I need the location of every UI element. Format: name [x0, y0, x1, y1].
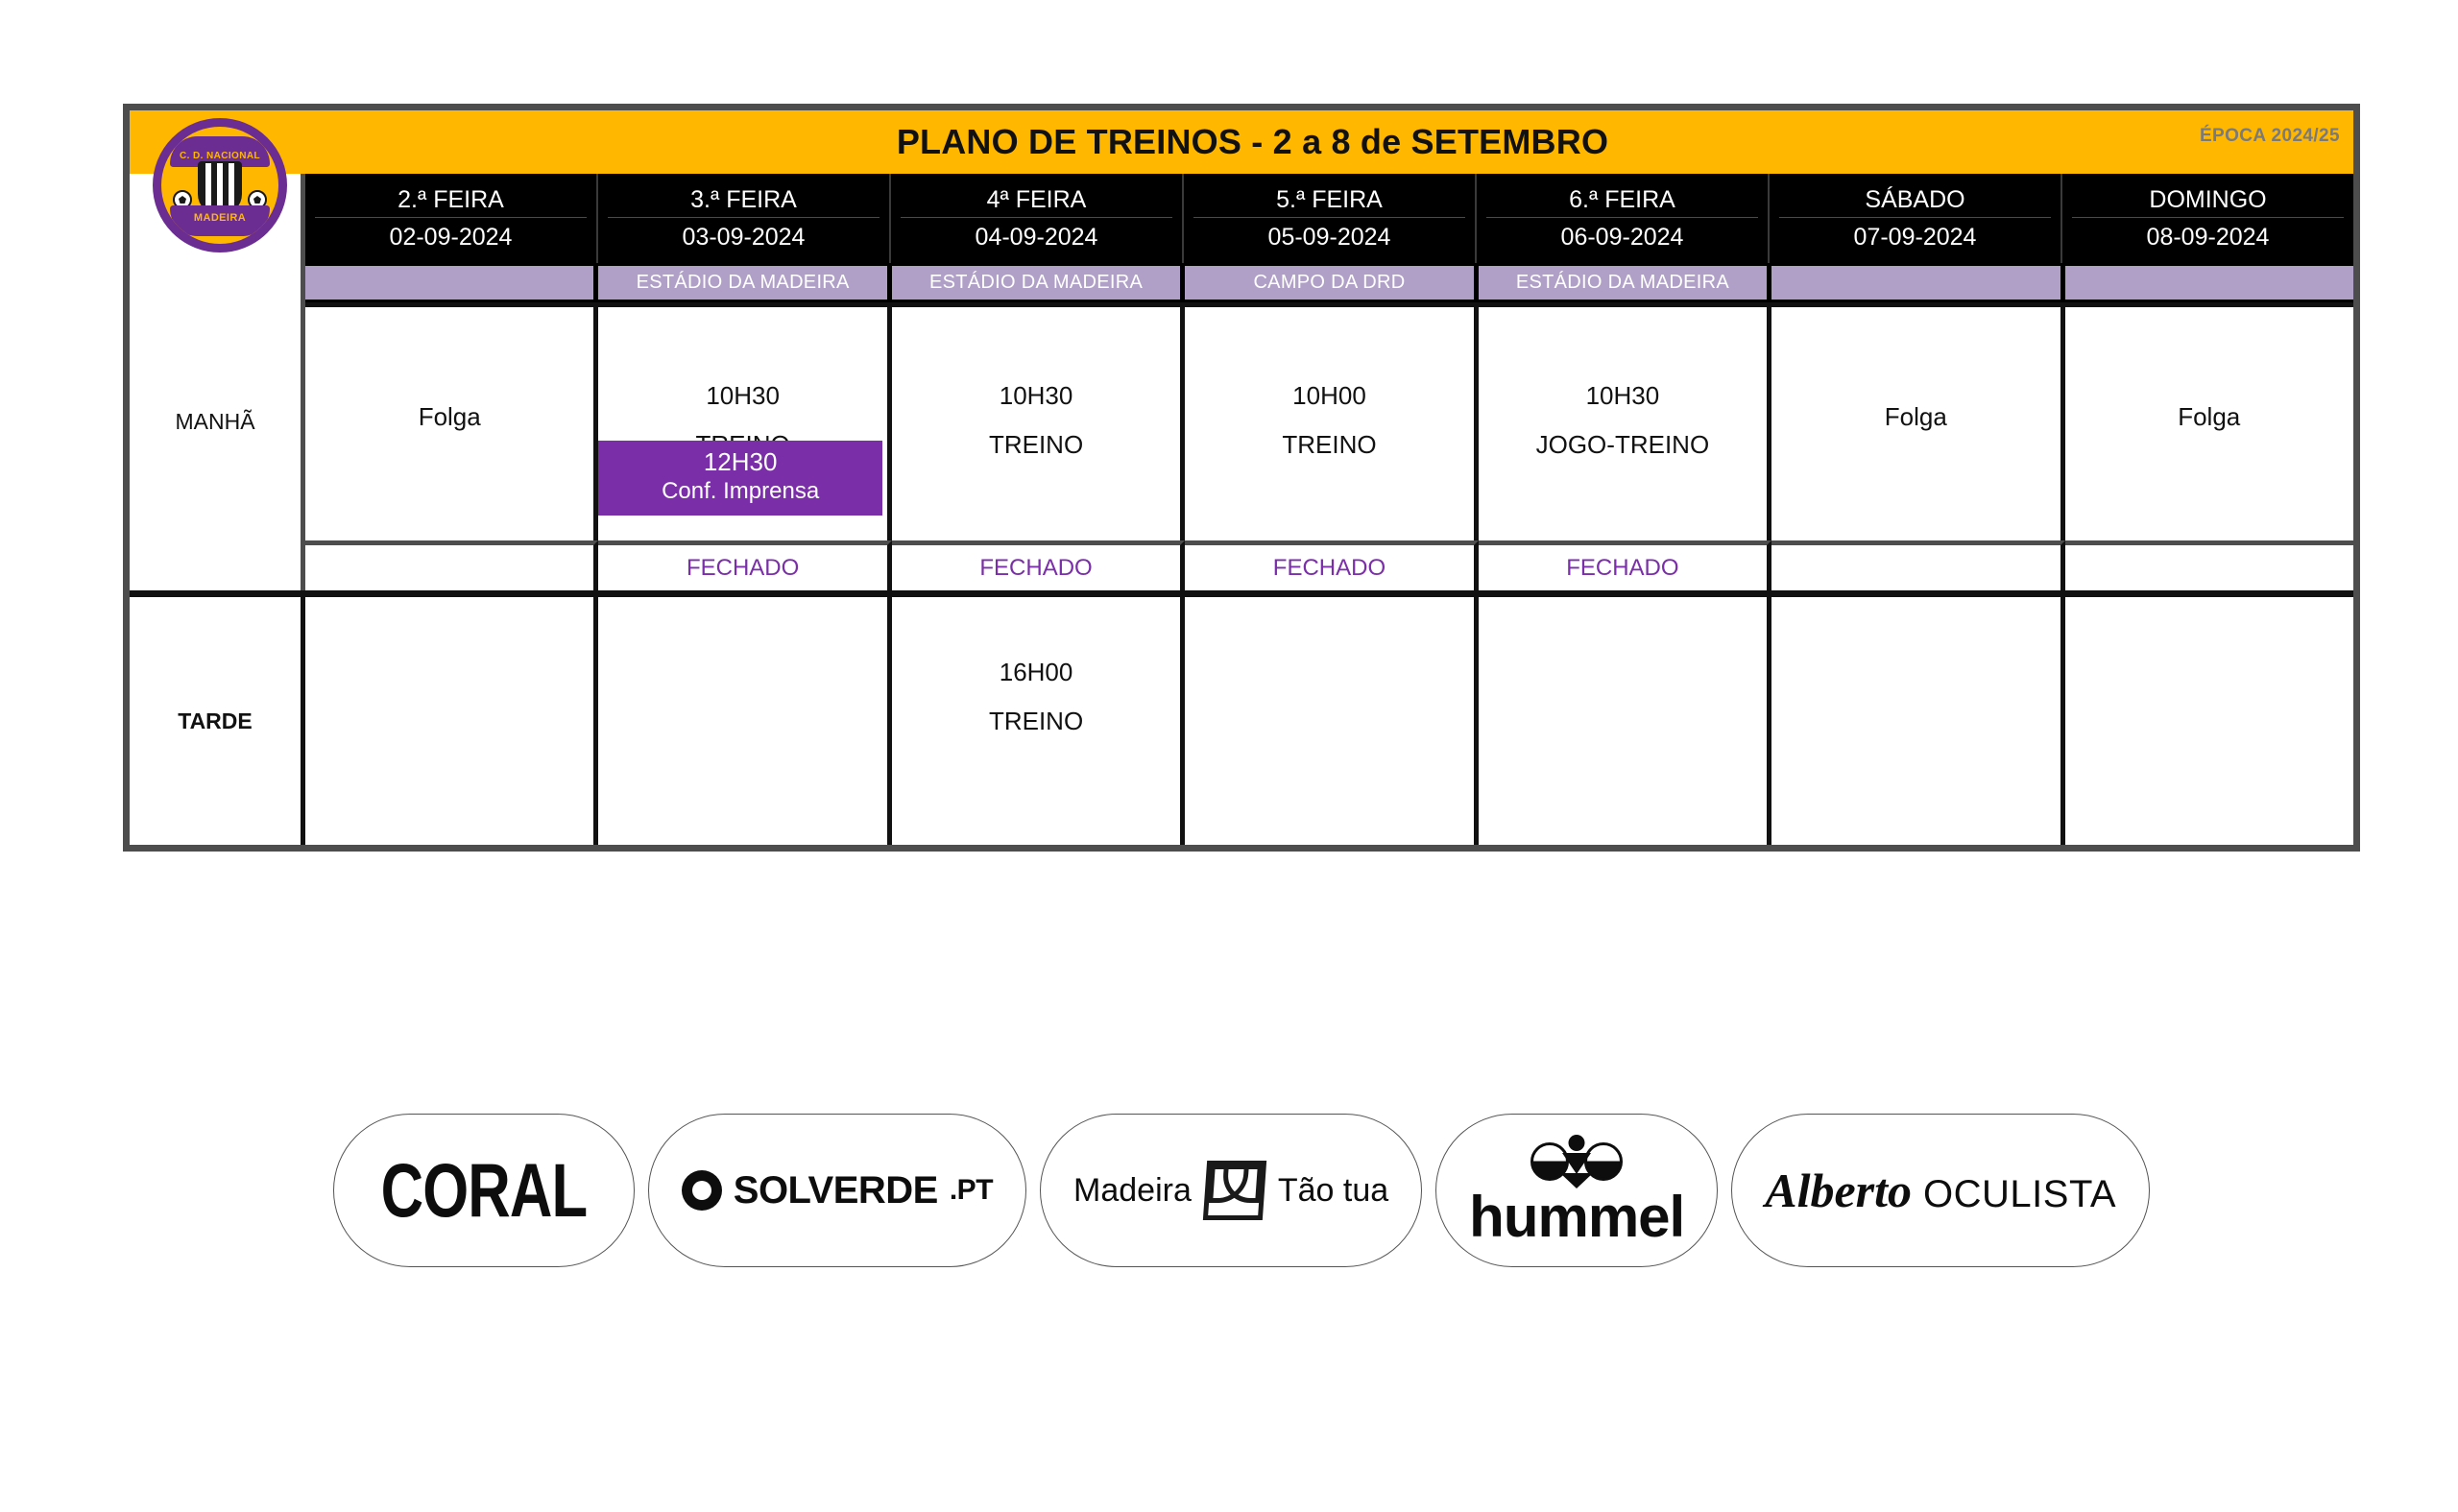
venue-cell-5: [1771, 263, 2064, 302]
day-header-2: 4ª FEIRA 04-09-2024: [891, 174, 1184, 263]
morning-cell-1: 10H30 TREINO 12H30 Conf. Imprensa: [598, 302, 891, 540]
closed-cell-3: FECHADO: [1185, 540, 1478, 590]
crest-region-name: MADEIRA: [170, 205, 270, 236]
day-name-6: DOMINGO: [2062, 186, 2353, 217]
day-date-4: 06-09-2024: [1486, 217, 1758, 252]
morning-activity-3: TREINO: [1185, 431, 1473, 459]
day-date-2: 04-09-2024: [901, 217, 1172, 252]
day-name-2: 4ª FEIRA: [891, 186, 1182, 217]
closed-cell-1: FECHADO: [598, 540, 891, 590]
morning-activity-0: Folga: [305, 403, 593, 431]
bee-icon: [1530, 1135, 1623, 1187]
morning-cell-4: 10H30 JOGO-TREINO: [1479, 302, 1771, 540]
closed-cell-5: [1771, 540, 2064, 590]
afternoon-cell-1: [598, 597, 891, 845]
sponsor-alberto-oculista[interactable]: Alberto OCULISTA: [1731, 1114, 2150, 1267]
sponsor-madeira-label-left: Madeira: [1073, 1172, 1192, 1210]
afternoon-cell-6: [2065, 597, 2353, 845]
morning-time-4: 10H30: [1479, 382, 1767, 410]
morning-activity-2: TREINO: [892, 431, 1180, 459]
sponsor-hummel-label: hummel: [1469, 1188, 1684, 1246]
closed-cell-0: [305, 540, 598, 590]
day-header-0: 2.ª FEIRA 02-09-2024: [305, 174, 598, 263]
day-name-5: SÁBADO: [1770, 186, 2060, 217]
page-title: PLANO DE TREINOS - 2 a 8 de SETEMBRO: [305, 122, 2353, 162]
day-header-6: DOMINGO 08-09-2024: [2062, 174, 2353, 263]
morning-time-2: 10H30: [892, 382, 1180, 410]
morning-cell-6: Folga: [2065, 302, 2353, 540]
afternoon-activity-2: TREINO: [892, 708, 1180, 735]
afternoon-cell-0: [305, 597, 598, 845]
venue-cell-4: ESTÁDIO DA MADEIRA: [1479, 263, 1771, 302]
morning-activity-6: Folga: [2065, 403, 2353, 431]
sponsor-coral-label: CORAL: [381, 1147, 588, 1234]
day-header-4: 6.ª FEIRA 06-09-2024: [1477, 174, 1770, 263]
day-date-1: 03-09-2024: [608, 217, 880, 252]
day-header-1: 3.ª FEIRA 03-09-2024: [598, 174, 891, 263]
closed-row: FECHADO FECHADO FECHADO FECHADO: [130, 540, 2353, 590]
closed-cell-4: FECHADO: [1479, 540, 1771, 590]
venue-cell-2: ESTÁDIO DA MADEIRA: [892, 263, 1185, 302]
club-crest-logo: C. D. NACIONAL MADEIRA: [153, 118, 287, 252]
venue-cell-1: ESTÁDIO DA MADEIRA: [598, 263, 891, 302]
sponsor-strip: CORAL SOLVERDE .PT Madeira Tão tua: [123, 1114, 2360, 1267]
press-conference-label: Conf. Imprensa: [598, 477, 881, 506]
closed-cell-6: [2065, 540, 2353, 590]
press-conference-block: 12H30 Conf. Imprensa: [598, 441, 881, 516]
morning-activity-5: Folga: [1771, 403, 2060, 431]
sponsor-solverde-suffix: .PT: [950, 1174, 993, 1207]
sponsor-madeira-label-right: Tão tua: [1278, 1172, 1388, 1210]
day-date-0: 02-09-2024: [315, 217, 587, 252]
afternoon-time-2: 16H00: [892, 659, 1180, 686]
afternoon-cell-4: [1479, 597, 1771, 845]
venue-row-label: [130, 263, 305, 302]
day-date-6: 08-09-2024: [2072, 217, 2344, 252]
sponsor-oculista-label: OCULISTA: [1923, 1173, 2116, 1216]
title-bar: PLANO DE TREINOS - 2 a 8 de SETEMBRO ÉPO…: [130, 110, 2353, 174]
butterfly-icon: [1203, 1161, 1266, 1220]
afternoon-row: TARDE 16H00 TREINO: [130, 590, 2353, 845]
closed-row-label: [130, 540, 305, 590]
morning-cell-3: 10H00 TREINO: [1185, 302, 1478, 540]
sponsor-solverde-label: SOLVERDE: [734, 1169, 938, 1212]
day-name-4: 6.ª FEIRA: [1477, 186, 1768, 217]
afternoon-row-label: TARDE: [130, 597, 305, 845]
sponsor-hummel[interactable]: hummel: [1435, 1114, 1718, 1267]
season-badge: ÉPOCA 2024/25: [2200, 126, 2340, 147]
morning-time-3: 10H00: [1185, 382, 1473, 410]
day-header-5: SÁBADO 07-09-2024: [1770, 174, 2062, 263]
day-header-3: 5.ª FEIRA 05-09-2024: [1184, 174, 1477, 263]
day-name-3: 5.ª FEIRA: [1184, 186, 1475, 217]
day-name-0: 2.ª FEIRA: [305, 186, 596, 217]
venue-cell-6: [2065, 263, 2353, 302]
sponsor-alberto-label: Alberto: [1765, 1163, 1912, 1218]
morning-cell-0: Folga: [305, 302, 598, 540]
day-header-row: 2.ª FEIRA 02-09-2024 3.ª FEIRA 03-09-202…: [130, 174, 2353, 263]
day-name-1: 3.ª FEIRA: [598, 186, 889, 217]
schedule-table: PLANO DE TREINOS - 2 a 8 de SETEMBRO ÉPO…: [123, 104, 2360, 852]
training-plan-poster: PLANO DE TREINOS - 2 a 8 de SETEMBRO ÉPO…: [0, 0, 2458, 1512]
afternoon-cell-2: 16H00 TREINO: [892, 597, 1185, 845]
sponsor-madeira-tao-tua[interactable]: Madeira Tão tua: [1040, 1114, 1422, 1267]
afternoon-cell-3: [1185, 597, 1478, 845]
morning-time-1: 10H30: [598, 382, 886, 410]
morning-row: MANHÃ Folga 10H30 TREINO 12H30 Conf. Imp…: [130, 302, 2353, 540]
morning-activity-4: JOGO-TREINO: [1479, 431, 1767, 459]
venue-cell-0: [305, 263, 598, 302]
venue-row: ESTÁDIO DA MADEIRA ESTÁDIO DA MADEIRA CA…: [130, 263, 2353, 302]
sponsor-coral[interactable]: CORAL: [333, 1114, 635, 1267]
morning-row-label: MANHÃ: [130, 302, 305, 540]
press-conference-time: 12H30: [598, 446, 881, 478]
afternoon-cell-5: [1771, 597, 2064, 845]
sponsor-solverde[interactable]: SOLVERDE .PT: [648, 1114, 1026, 1267]
closed-cell-2: FECHADO: [892, 540, 1185, 590]
morning-cell-5: Folga: [1771, 302, 2064, 540]
day-date-3: 05-09-2024: [1193, 217, 1465, 252]
sunburst-icon: [682, 1170, 722, 1211]
venue-cell-3: CAMPO DA DRD: [1185, 263, 1478, 302]
morning-cell-2: 10H30 TREINO: [892, 302, 1185, 540]
day-date-5: 07-09-2024: [1779, 217, 2051, 252]
